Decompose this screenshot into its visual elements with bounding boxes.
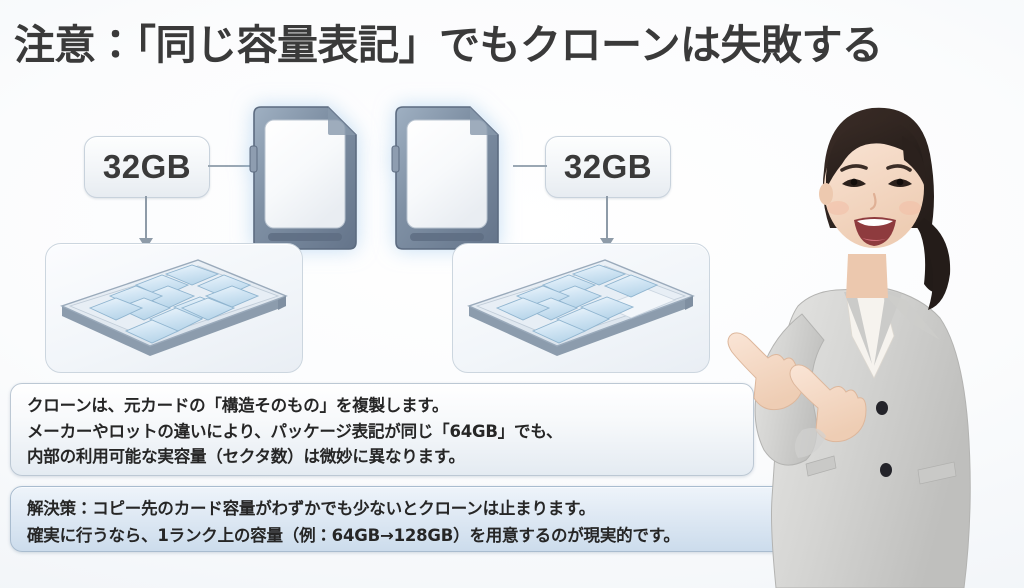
memory-tray-right-icon [453,244,709,372]
connector-line-right [513,165,547,167]
sd-card-right-icon [390,104,504,252]
explanation-box: クローンは、元カードの「構造そのもの」を複製します。 メーカーやロットの違いによ… [10,383,754,476]
page-title: 注意：「同じ容量表記」でもクローンは失敗する [14,14,1014,78]
capacity-label-right: 32GB [545,136,671,198]
arrow-shaft-left [145,196,147,240]
explanation-line-2: メーカーやロットの違いにより、パッケージ表記が同じ「64GB」でも、 [27,419,753,445]
capacity-label-right-text: 32GB [564,148,652,186]
memory-tray-right [452,243,710,373]
explanation-line-3: 内部の利用可能な実容量（セクタ数）は微妙に異なります。 [27,444,753,470]
explanation-line-1: クローンは、元カードの「構造そのもの」を複製します。 [27,393,753,419]
memory-tray-left-icon [46,244,302,372]
memory-tray-left [45,243,303,373]
capacity-label-left: 32GB [84,136,210,198]
presenter-photo [706,78,1024,588]
arrow-shaft-right [606,196,608,240]
slide-canvas: 注意：「同じ容量表記」でもクローンは失敗する 32GB 32GB [0,0,1024,588]
sd-card-left-icon [248,104,362,252]
capacity-label-left-text: 32GB [103,148,191,186]
